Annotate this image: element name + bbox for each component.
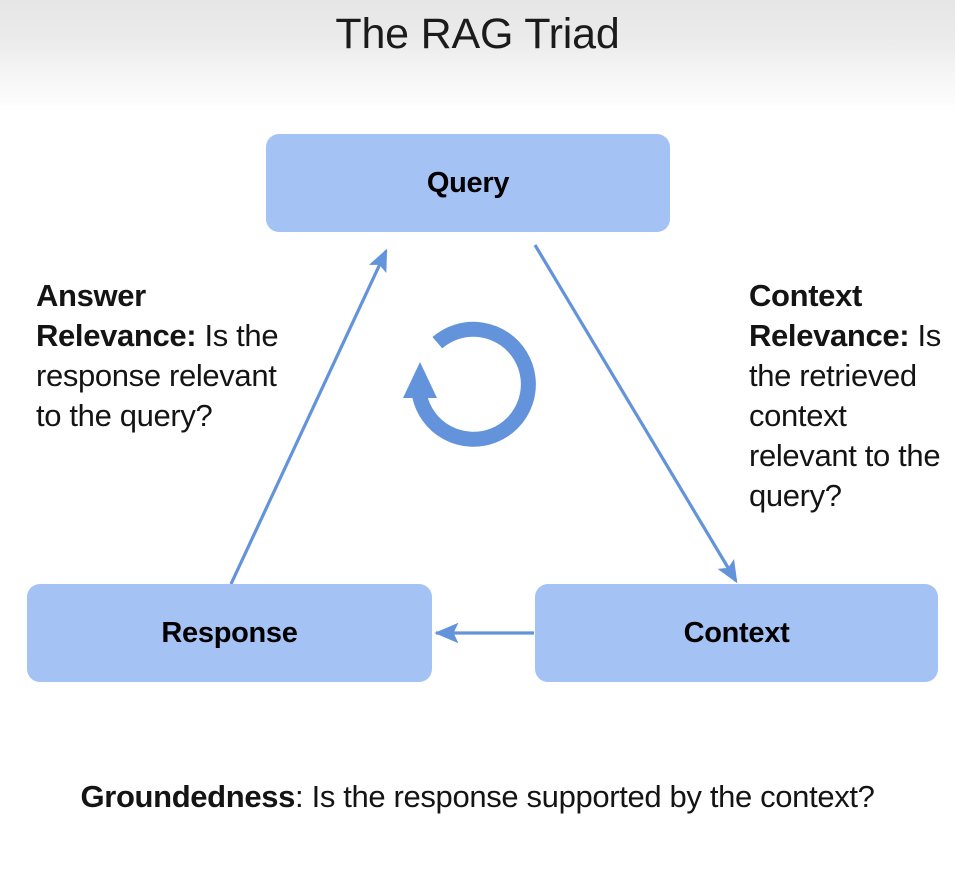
annotation-answer-relevance: Answer Relevance: Is the response releva… bbox=[36, 276, 286, 436]
caption-groundedness-separator: : bbox=[295, 779, 312, 814]
node-response[interactable]: Response bbox=[27, 584, 432, 682]
annotation-context-relevance-term: Context Relevance: bbox=[749, 278, 909, 353]
caption-groundedness-term: Groundedness bbox=[80, 779, 295, 814]
cycle-arrow-icon bbox=[403, 322, 535, 446]
caption-groundedness-question: Is the response supported by the context… bbox=[312, 779, 875, 814]
node-query[interactable]: Query bbox=[266, 134, 670, 232]
diagram-canvas: The RAG Triad Query Respo bbox=[0, 0, 955, 883]
node-context-label: Context bbox=[684, 617, 790, 650]
annotation-context-relevance: Context Relevance: Is the retrieved cont… bbox=[749, 276, 955, 516]
arrow-query-to-context bbox=[535, 245, 736, 581]
node-response-label: Response bbox=[161, 617, 297, 650]
node-context[interactable]: Context bbox=[535, 584, 938, 682]
caption-groundedness: Groundedness: Is the response supported … bbox=[0, 776, 955, 818]
node-query-label: Query bbox=[427, 167, 509, 200]
annotation-answer-relevance-term: Answer Relevance: bbox=[36, 278, 196, 353]
